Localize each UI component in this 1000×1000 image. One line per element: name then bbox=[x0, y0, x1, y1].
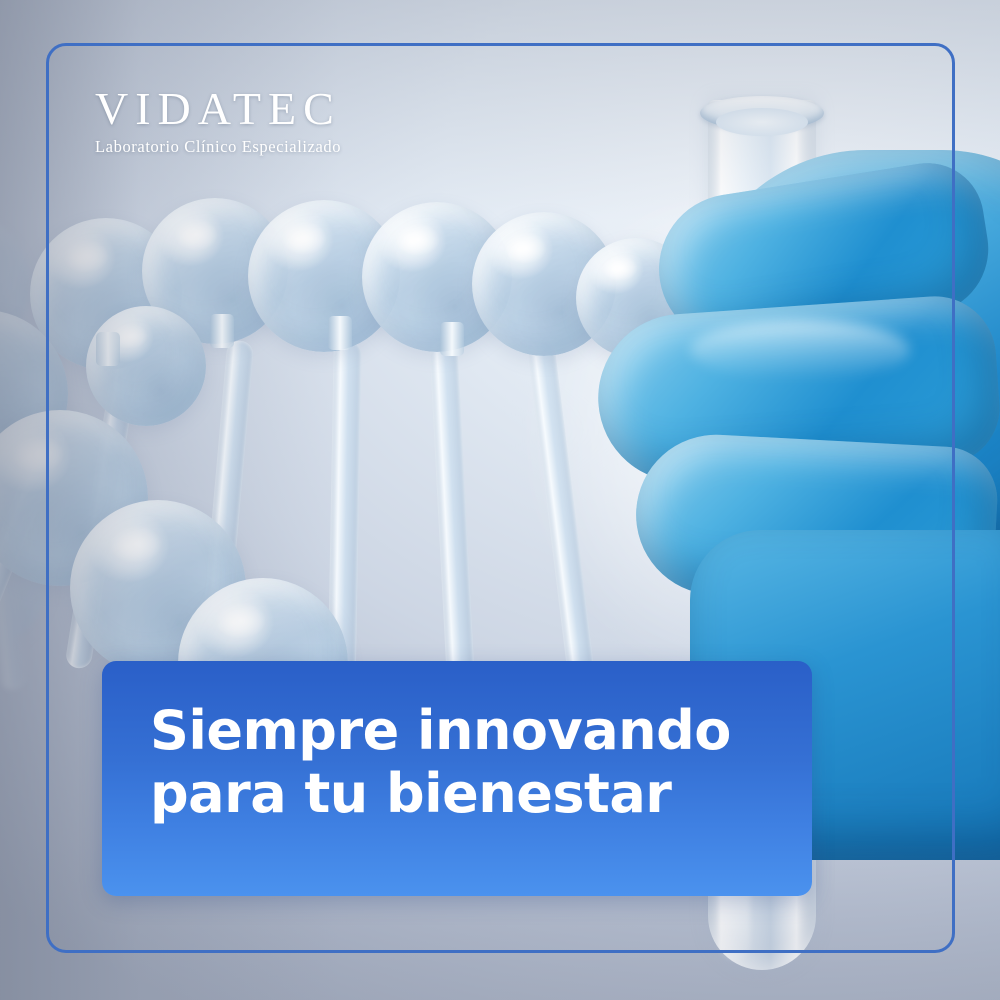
headline-banner: Siempre innovando para tu bienestar bbox=[102, 661, 812, 896]
headline-line-1: Siempre innovando bbox=[150, 699, 788, 762]
headline-line-2: para tu bienestar bbox=[150, 762, 788, 825]
headline-text: Siempre innovando para tu bienestar bbox=[150, 699, 788, 825]
brand-wordmark: VIDATEC bbox=[95, 86, 341, 132]
promo-graphic: VIDATEC Laboratorio Clínico Especializad… bbox=[0, 0, 1000, 1000]
brand-logo: VIDATEC Laboratorio Clínico Especializad… bbox=[95, 86, 341, 156]
brand-tagline: Laboratorio Clínico Especializado bbox=[95, 139, 341, 156]
